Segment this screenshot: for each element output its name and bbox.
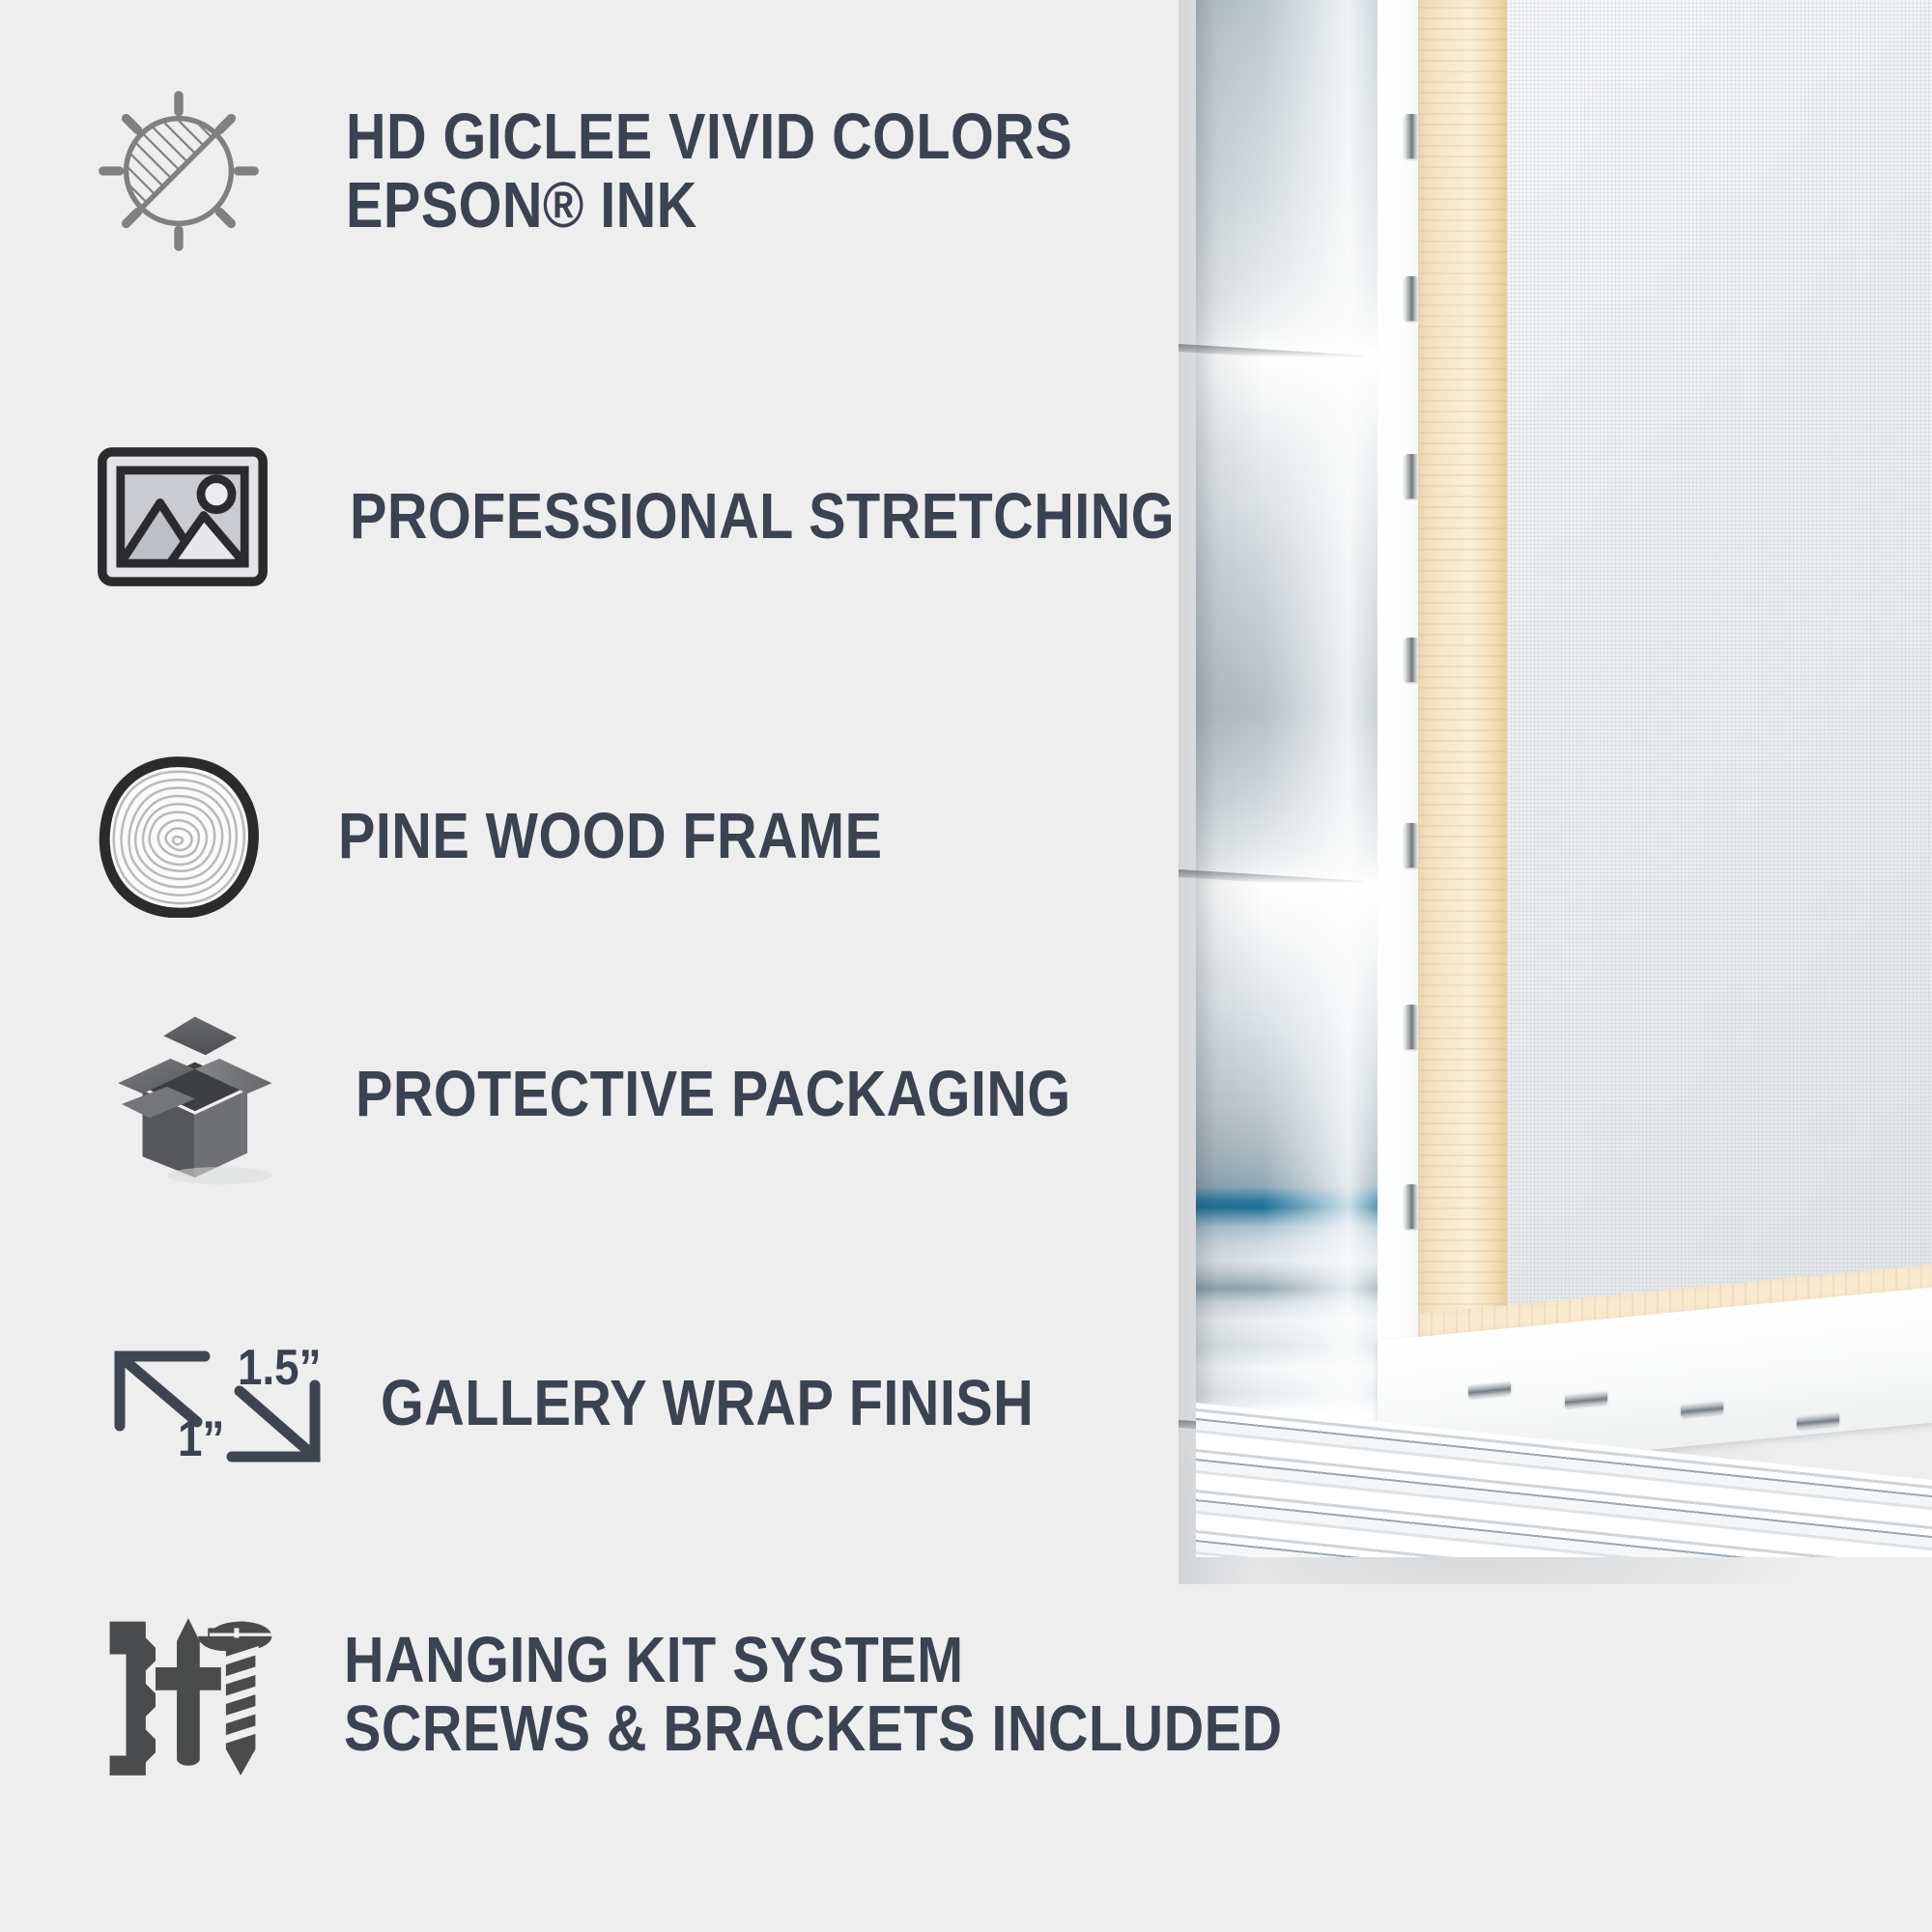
infographic-canvas: HD GICLEE VIVID COLORS EPSON® INK PROFES… (0, 0, 1932, 1932)
wrap-bottom-corner (1196, 1403, 1932, 1557)
staple (1405, 276, 1418, 321)
feature-label: PINE WOOD FRAME (338, 802, 882, 870)
artwork-bands (1196, 1403, 1932, 1557)
feature-label: HD GICLEE VIVID COLORS EPSON® INK (346, 102, 1072, 240)
feature-label: HANGING KIT SYSTEM SCREWS & BRACKETS INC… (344, 1626, 1283, 1763)
pine-stretcher-bar-vertical (1418, 0, 1511, 1368)
edge-shading (1196, 0, 1381, 1551)
feature-row-packaging: PROTECTIVE PACKAGING (97, 1003, 1187, 1186)
feature-row-gallery-wrap: 1.5” 1” GALLERY WRAP FINISH (97, 1321, 1140, 1486)
staple (1405, 1184, 1418, 1229)
staple (1405, 823, 1418, 867)
staple (1405, 114, 1418, 158)
feature-label: GALLERY WRAP FINISH (381, 1369, 1034, 1437)
feature-row-stretching: PROFESSIONAL STRETCHING (97, 446, 1309, 587)
staple (1405, 454, 1418, 498)
feature-label: PROTECTIVE PACKAGING (355, 1060, 1071, 1128)
depth-top-label: 1.5” (238, 1339, 322, 1397)
wood-rings-icon (97, 755, 259, 918)
staple (1405, 638, 1418, 682)
depth-bottom-label: 1” (178, 1410, 224, 1468)
canvas-back-fabric (1507, 0, 1932, 1349)
feature-row-hanging-kit: HANGING KIT SYSTEM SCREWS & BRACKETS INC… (97, 1592, 1435, 1797)
printed-wrap-edge (1196, 0, 1381, 1551)
depth-arrows-icon: 1.5” 1” (97, 1321, 338, 1486)
hanging-hardware-icon (97, 1592, 290, 1797)
feature-row-hd-giclee: HD GICLEE VIVID COLORS EPSON® INK (97, 89, 1191, 253)
staple (1405, 1005, 1418, 1049)
sun-giclee-icon (97, 89, 261, 253)
picture-frame-icon (97, 446, 269, 587)
canvas-back-corner-photo (1179, 0, 1932, 1584)
feature-label: PROFESSIONAL STRETCHING (350, 482, 1175, 551)
open-box-icon (97, 1003, 290, 1186)
feature-row-pine-frame: PINE WOOD FRAME (97, 755, 971, 918)
